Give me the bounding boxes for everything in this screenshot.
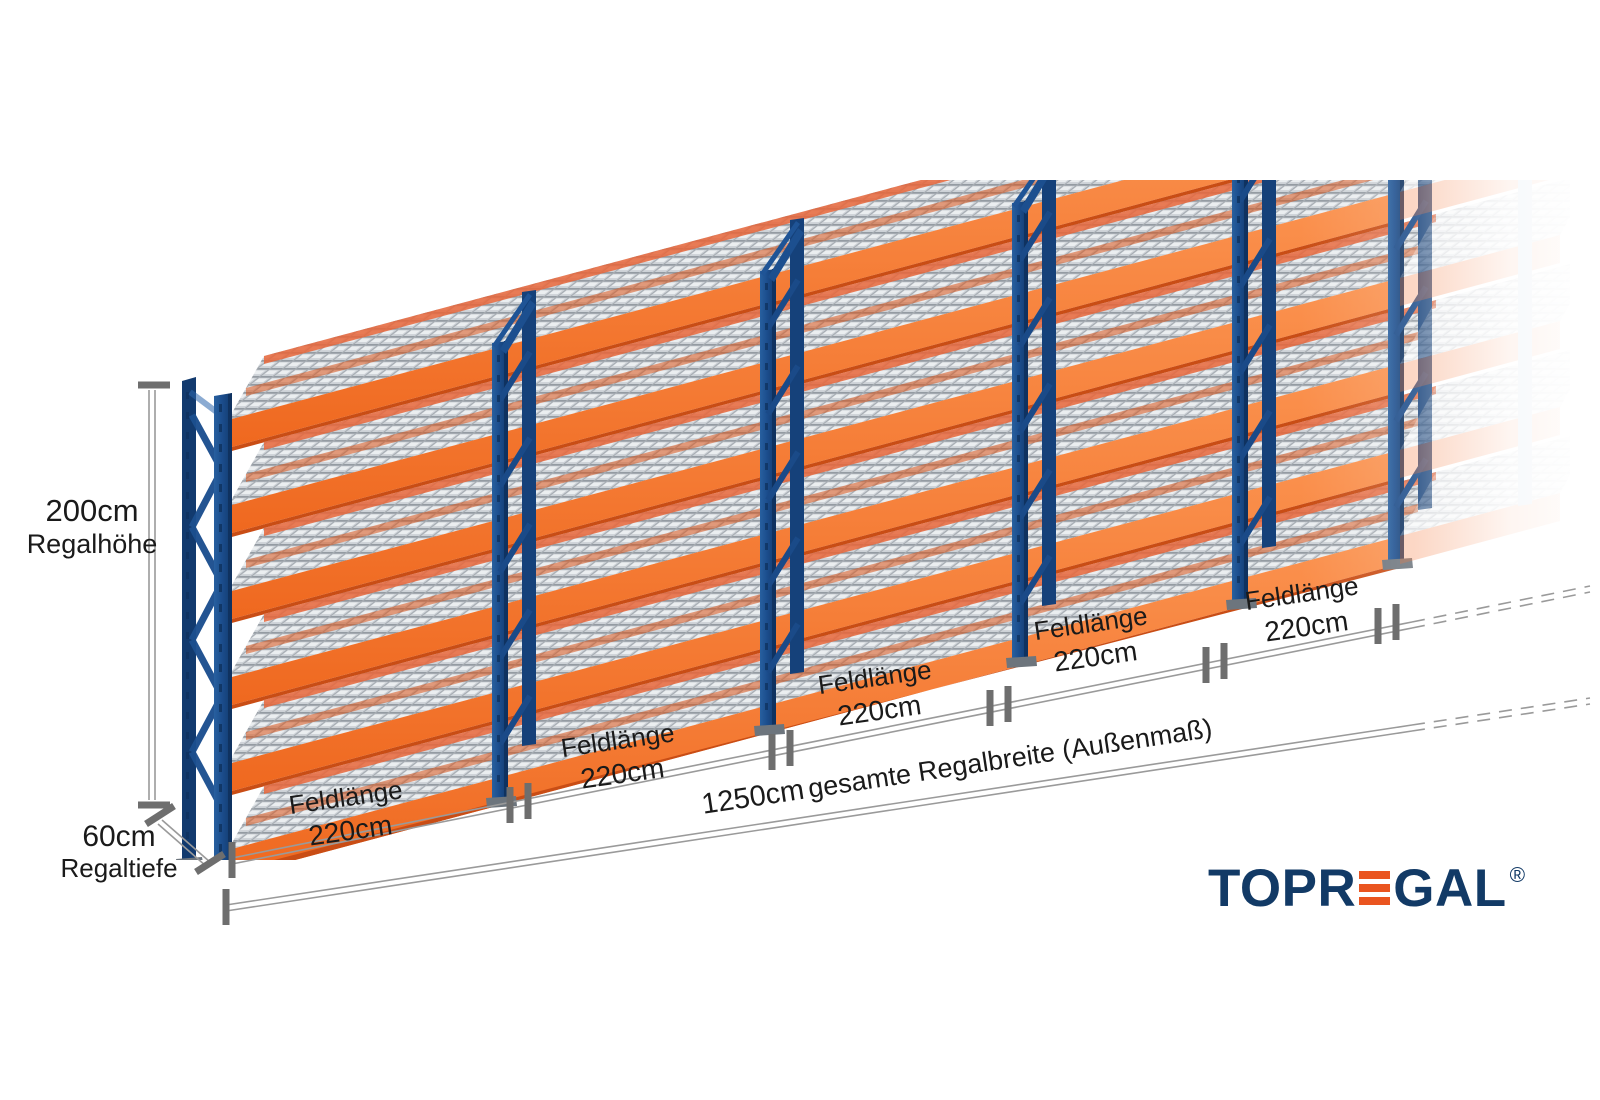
product-illustration: 200cm Regalhöhe 60cm Regaltiefe Feldläng…: [0, 0, 1600, 1100]
shelving-rack-drawing: [0, 0, 1600, 1100]
fade-overlay: [1300, 180, 1600, 870]
height-caption: Regalhöhe: [8, 529, 176, 559]
height-value: 200cm: [8, 494, 176, 529]
dim-height: [138, 385, 170, 805]
registered-trademark-icon: ®: [1510, 864, 1525, 888]
upright-frame-5: [1226, 91, 1276, 610]
logo-wordmark: TOPR GAL: [1208, 862, 1507, 915]
topregal-logo: TOPR GAL ®: [1208, 862, 1525, 915]
upright-frame-1: [176, 377, 242, 887]
depth-dimension-label: 60cm Regaltiefe: [44, 820, 194, 883]
height-dimension-label: 200cm Regalhöhe: [8, 494, 176, 559]
depth-caption: Regaltiefe: [44, 854, 194, 883]
shelf-levels: [228, 42, 1436, 878]
logo-text-top: TOPR: [1208, 862, 1356, 915]
logo-text-gal: GAL: [1393, 862, 1506, 915]
depth-value: 60cm: [44, 820, 194, 854]
logo-e-bars-icon: [1359, 871, 1390, 906]
rack-assembly: [176, 0, 1600, 887]
